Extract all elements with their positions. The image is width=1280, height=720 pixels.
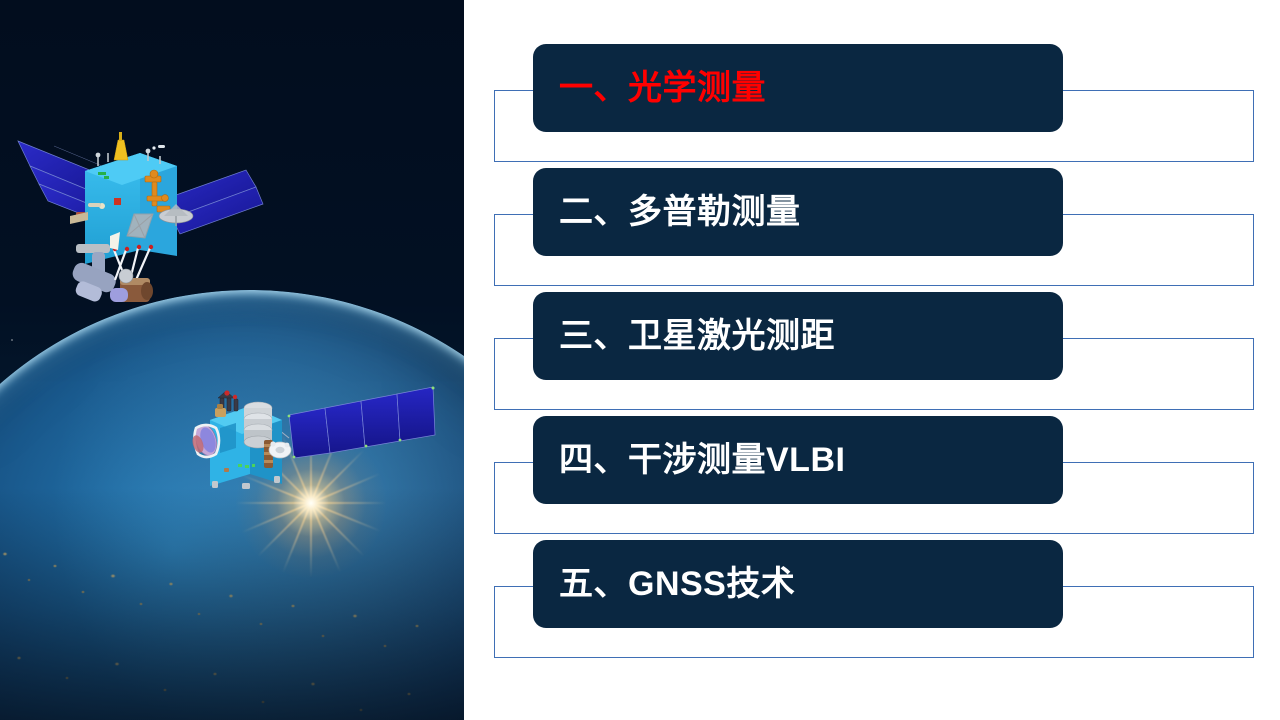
satellite-lower-icon — [190, 368, 440, 503]
toc-item-label: 三、卫星激光测距 — [559, 319, 835, 353]
toc-item-1[interactable]: 一、光学测量 — [533, 44, 1063, 132]
toc-item-3[interactable]: 三、卫星激光测距 — [533, 292, 1063, 380]
slide-root: 一、光学测量 二、多普勒测量 三、卫星激光测距 四、干涉测量VLBI 五、GNS — [0, 0, 1280, 720]
toc-item-4[interactable]: 四、干涉测量VLBI — [533, 416, 1063, 504]
toc-item-label: 五、GNSS技术 — [559, 567, 795, 601]
toc-item-label: 一、光学测量 — [559, 71, 766, 105]
table-of-contents: 一、光学测量 二、多普勒测量 三、卫星激光测距 四、干涉测量VLBI 五、GNS — [464, 0, 1280, 720]
toc-item-5[interactable]: 五、GNSS技术 — [533, 540, 1063, 628]
satellite-upper-icon — [14, 128, 264, 323]
toc-item-2[interactable]: 二、多普勒测量 — [533, 168, 1063, 256]
space-illustration-panel — [0, 0, 464, 720]
toc-item-label: 二、多普勒测量 — [559, 195, 801, 229]
toc-item-label: 四、干涉测量VLBI — [559, 443, 845, 477]
